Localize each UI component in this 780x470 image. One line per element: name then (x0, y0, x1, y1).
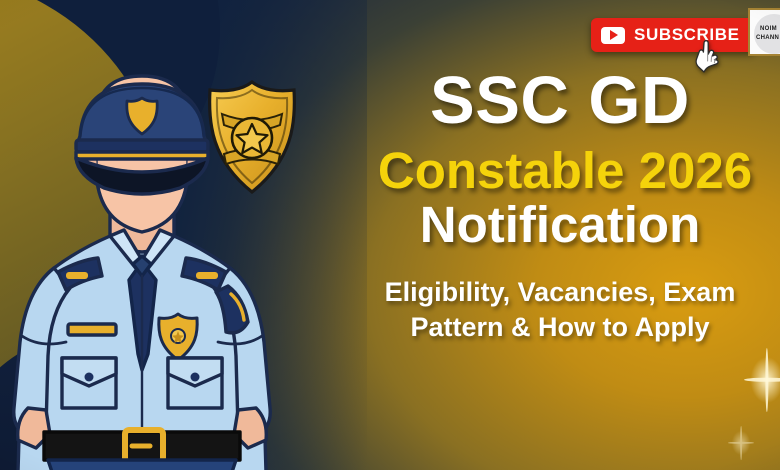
thumbnail-canvas: SSC GD Constable 2026 Notification Eligi… (0, 0, 780, 470)
vignette-overlay (0, 0, 780, 470)
